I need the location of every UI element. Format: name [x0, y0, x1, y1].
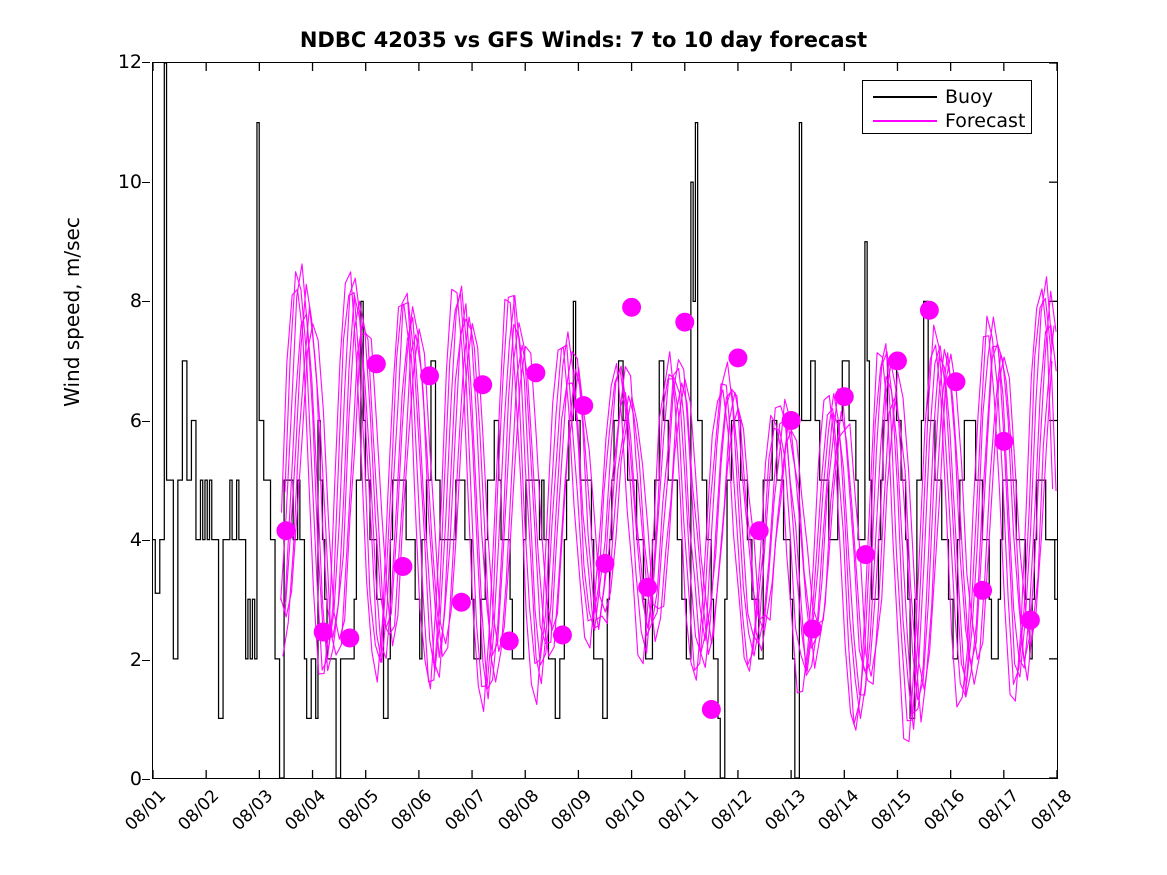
plot-area — [152, 62, 1058, 779]
x-tick-label: 08/09 — [541, 786, 596, 841]
forecast-mean-marker — [1021, 611, 1040, 630]
x-tick-label: 08/16 — [914, 786, 969, 841]
y-tick-label: 10 — [118, 171, 142, 193]
y-tick-mark — [142, 301, 150, 302]
x-tick-label: 08/13 — [755, 786, 810, 841]
forecast-series-line — [285, 272, 1056, 725]
legend: Buoy Forecast — [862, 80, 1032, 134]
legend-entry-buoy: Buoy — [863, 85, 1031, 109]
figure: NDBC 42035 vs GFS Winds: 7 to 10 day for… — [0, 0, 1167, 875]
forecast-mean-marker — [675, 313, 694, 332]
forecast-mean-marker — [314, 623, 333, 642]
y-tick-mark — [142, 660, 150, 661]
y-tick-label: 6 — [130, 410, 142, 432]
plot-canvas — [153, 63, 1057, 778]
x-tick-label: 08/17 — [968, 786, 1023, 841]
forecast-mean-marker — [420, 366, 439, 385]
legend-entry-forecast: Forecast — [863, 109, 1031, 133]
forecast-mean-marker — [473, 375, 492, 394]
forecast-mean-marker — [622, 298, 641, 317]
forecast-mean-marker — [803, 620, 822, 639]
forecast-mean-marker — [276, 521, 295, 540]
x-tick-label: 08/05 — [328, 786, 383, 841]
x-tick-label: 08/12 — [701, 786, 756, 841]
legend-label-forecast: Forecast — [945, 109, 1025, 133]
y-tick-label: 8 — [130, 290, 142, 312]
y-tick-mark — [142, 182, 150, 183]
forecast-mean-marker — [994, 432, 1013, 451]
x-tick-label: 08/10 — [595, 786, 650, 841]
forecast-mean-marker — [574, 396, 593, 415]
forecast-mean-marker — [638, 578, 657, 597]
forecast-series-line — [282, 272, 1053, 742]
x-tick-label: 08/07 — [435, 786, 490, 841]
forecast-mean-marker — [782, 411, 801, 430]
forecast-mean-marker — [856, 545, 875, 564]
x-tick-label: 08/04 — [275, 786, 330, 841]
y-axis-tick-labels: 024681012 — [100, 62, 142, 779]
forecast-mean-marker — [750, 521, 769, 540]
x-tick-label: 08/18 — [1021, 786, 1076, 841]
forecast-mean-marker — [728, 348, 747, 367]
y-tick-mark — [142, 779, 150, 780]
forecast-mean-marker — [340, 629, 359, 648]
forecast-mean-marker — [553, 626, 572, 645]
x-tick-label: 08/03 — [222, 786, 277, 841]
y-tick-label: 4 — [130, 529, 142, 551]
legend-label-buoy: Buoy — [945, 85, 993, 109]
y-tick-label: 12 — [118, 51, 142, 73]
x-tick-label: 08/15 — [861, 786, 916, 841]
forecast-mean-marker — [835, 387, 854, 406]
y-tick-mark — [142, 421, 150, 422]
forecast-mean-marker — [946, 372, 965, 391]
chart-title: NDBC 42035 vs GFS Winds: 7 to 10 day for… — [0, 28, 1167, 52]
x-tick-label: 08/06 — [381, 786, 436, 841]
x-tick-label: 08/01 — [115, 786, 170, 841]
forecast-mean-marker — [596, 554, 615, 573]
y-tick-mark — [142, 540, 150, 541]
x-tick-label: 08/02 — [168, 786, 223, 841]
buoy-series-line — [153, 63, 1057, 778]
forecast-mean-marker — [367, 354, 386, 373]
forecast-mean-marker — [526, 363, 545, 382]
forecast-mean-marker — [500, 631, 519, 650]
y-tick-label: 2 — [130, 649, 142, 671]
forecast-mean-marker — [393, 557, 412, 576]
x-tick-label: 08/08 — [488, 786, 543, 841]
forecast-mean-marker — [973, 581, 992, 600]
legend-swatch-forecast — [873, 120, 937, 122]
forecast-mean-marker — [452, 593, 471, 612]
legend-swatch-buoy — [873, 96, 937, 98]
y-tick-mark — [142, 62, 150, 63]
x-tick-label: 08/14 — [808, 786, 863, 841]
forecast-mean-marker — [920, 301, 939, 320]
forecast-mean-marker — [888, 351, 907, 370]
x-axis-tick-labels: 08/0108/0208/0308/0408/0508/0608/0708/08… — [0, 786, 1167, 866]
x-tick-label: 08/11 — [648, 786, 703, 841]
forecast-mean-marker — [702, 700, 721, 719]
y-axis-title: Wind speed, m/sec — [60, 182, 84, 442]
